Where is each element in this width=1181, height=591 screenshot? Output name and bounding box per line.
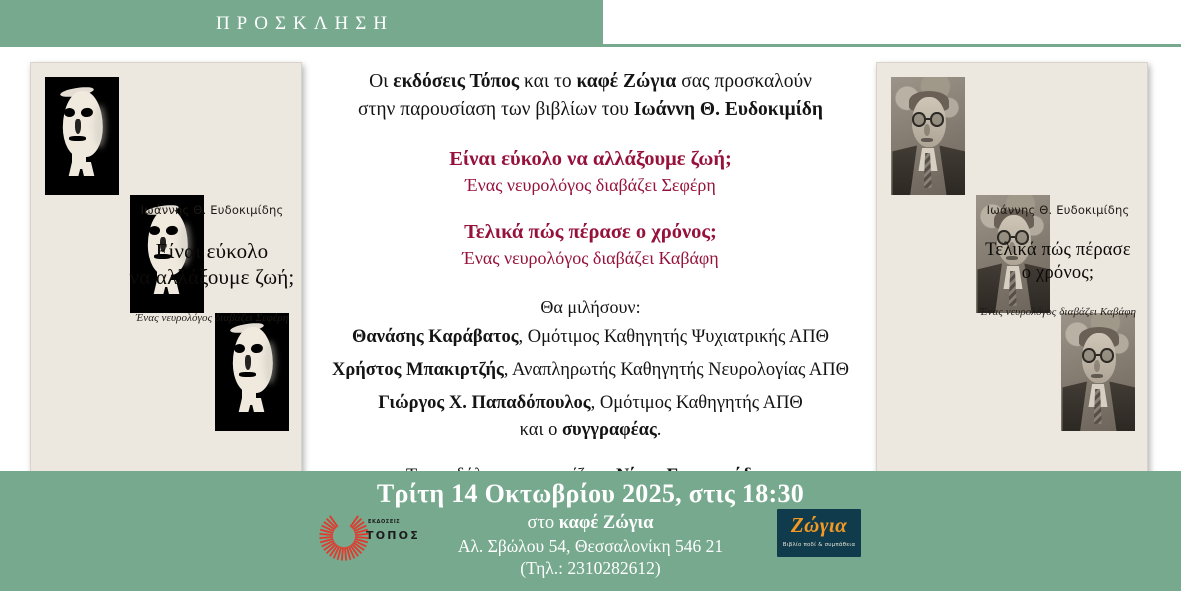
topos-burst-icon (316, 508, 372, 564)
speaker-3-name: Γιώργος Χ. Παπαδόπουλος (378, 393, 590, 413)
speakers-lead: Θα μιλήσουν: (320, 297, 861, 318)
cavafy-portrait (891, 77, 965, 195)
cover-right-text: Ιωάννης Θ. Ευδοκιμίδης Τελικά πώς πέρασε… (975, 203, 1141, 318)
invitation-poster: ΠΡΟΣΚΛΗΣΗ (0, 0, 1181, 591)
and-author-word: συγγραφέας (562, 420, 657, 440)
book-cover-right: συνάψεις - 20 Ιωάννης Θ. Ευδοκιμίδης Τελ… (876, 62, 1148, 494)
cover-right-subtitle: Ένας νευρολόγος διαβάζει Καβάφη (975, 306, 1141, 318)
cover-right-inner: συνάψεις - 20 Ιωάννης Θ. Ευδοκιμίδης Τελ… (877, 63, 1147, 493)
cavafy-portrait (1061, 313, 1135, 431)
speaker-3-role: , Ομότιμος Καθηγητής ΑΠΘ (591, 393, 803, 413)
book-1-subtitle: Ένας νευρολόγος διαβάζει Σεφέρη (320, 174, 861, 197)
venue-title: καφέ Ζώγια (559, 513, 654, 533)
book-cover-left: συνάψεις - 19 Ιωάννης Θ. Ευδοκιμίδης Είν… (30, 62, 302, 494)
topos-wordmark: ΤΟΠΟΣ (366, 529, 420, 542)
cover-left-title-line1: Είναι εύκολο (156, 239, 269, 263)
book-1-title: Είναι εύκολο να αλλάξουμε ζωή; (320, 147, 861, 173)
speaker-1: Θανάσης Καράβατος, Ομότιμος Καθηγητής Ψυ… (320, 323, 861, 351)
topos-logo: ΕΚΔΟΣΕΙΣ ΤΟΠΟΣ (316, 505, 412, 567)
cover-left-subtitle: Ένας νευρολόγος διαβάζει Σεφέρη (129, 312, 295, 324)
seferis-portrait (45, 77, 119, 195)
intro-line2-prefix: στην παρουσίαση των βιβλίων του (358, 99, 634, 120)
and-the-author: και ο συγγραφέας. (320, 420, 861, 441)
cover-right-title-line2: ο χρόνος; (1022, 263, 1094, 283)
zogia-wordmark: Ζώγια (777, 513, 861, 538)
speaker-1-role: , Ομότιμος Καθηγητής Ψυχιατρικής ΑΠΘ (519, 327, 829, 347)
header-green-rule (603, 44, 1181, 47)
event-datetime: Τρίτη 14 Οκτωβρίου 2025, στις 18:30 (0, 479, 1181, 509)
cover-left-inner: συνάψεις - 19 Ιωάννης Θ. Ευδοκιμίδης Είν… (31, 63, 301, 493)
and-author-prefix: και ο (520, 420, 562, 440)
event-address: Αλ. Σβώλου 54, Θεσσαλονίκη 546 21 (0, 536, 1181, 557)
venue-name: καφέ Ζώγια (576, 71, 676, 92)
cover-right-title: Τελικά πώς πέρασε ο χρόνος; (975, 239, 1141, 284)
speaker-3: Γιώργος Χ. Παπαδόπουλος, Ομότιμος Καθηγη… (320, 389, 861, 417)
footer: Τρίτη 14 Οκτωβρίου 2025, στις 18:30 στο … (0, 471, 1181, 591)
speaker-2-role: , Αναπληρωτής Καθηγητής Νευρολογίας ΑΠΘ (504, 360, 849, 380)
intro-mid: και το (519, 71, 576, 92)
event-phone: (Τηλ.: 2310282612) (0, 558, 1181, 579)
event-venue: στο καφέ Ζώγια (0, 513, 1181, 534)
cover-left-title-line2: να αλλάξουμε ζωή; (130, 265, 295, 289)
zogia-logo: Ζώγια Βιβλίο ποδί & συμπάθεια (777, 509, 861, 557)
publisher-name: εκδόσεις Τόπος (393, 71, 519, 92)
venue-prefix: στο (527, 513, 558, 533)
cover-left-author: Ιωάννης Θ. Ευδοκιμίδης (129, 203, 295, 217)
speaker-1-name: Θανάσης Καράβατος (352, 327, 519, 347)
author-name: Ιωάννη Θ. Ευδοκιμίδη (634, 99, 823, 120)
zogia-tagline: Βιβλίο ποδί & συμπάθεια (777, 542, 861, 548)
seferis-portrait (215, 313, 289, 431)
cover-right-author: Ιωάννης Θ. Ευδοκιμίδης (975, 203, 1141, 217)
topos-kicker: ΕΚΔΟΣΕΙΣ (368, 519, 400, 525)
intro-prefix: Οι (369, 71, 393, 92)
book-2-subtitle: Ένας νευρολόγος διαβάζει Καβάφη (320, 247, 861, 270)
invitation-heading: ΠΡΟΣΚΛΗΣΗ (0, 0, 603, 47)
intro-suffix: σας προσκαλούν (676, 71, 812, 92)
and-author-suffix: . (657, 420, 662, 440)
speaker-2-name: Χρήστος Μπακιρτζής (332, 360, 504, 380)
cover-left-title: Είναι εύκολο να αλλάξουμε ζωή; (129, 239, 295, 290)
speaker-2: Χρήστος Μπακιρτζής, Αναπληρωτής Καθηγητή… (320, 356, 861, 384)
invitation-intro: Οι εκδόσεις Τόπος και το καφέ Ζώγια σας … (320, 68, 861, 125)
cover-left-text: Ιωάννης Θ. Ευδοκιμίδης Είναι εύκολο να α… (129, 203, 295, 324)
cover-right-title-line1: Τελικά πώς πέρασε (985, 240, 1131, 260)
invitation-body: Οι εκδόσεις Τόπος και το καφέ Ζώγια σας … (320, 60, 861, 518)
book-2-title: Τελικά πώς πέρασε ο χρόνος; (320, 220, 861, 246)
